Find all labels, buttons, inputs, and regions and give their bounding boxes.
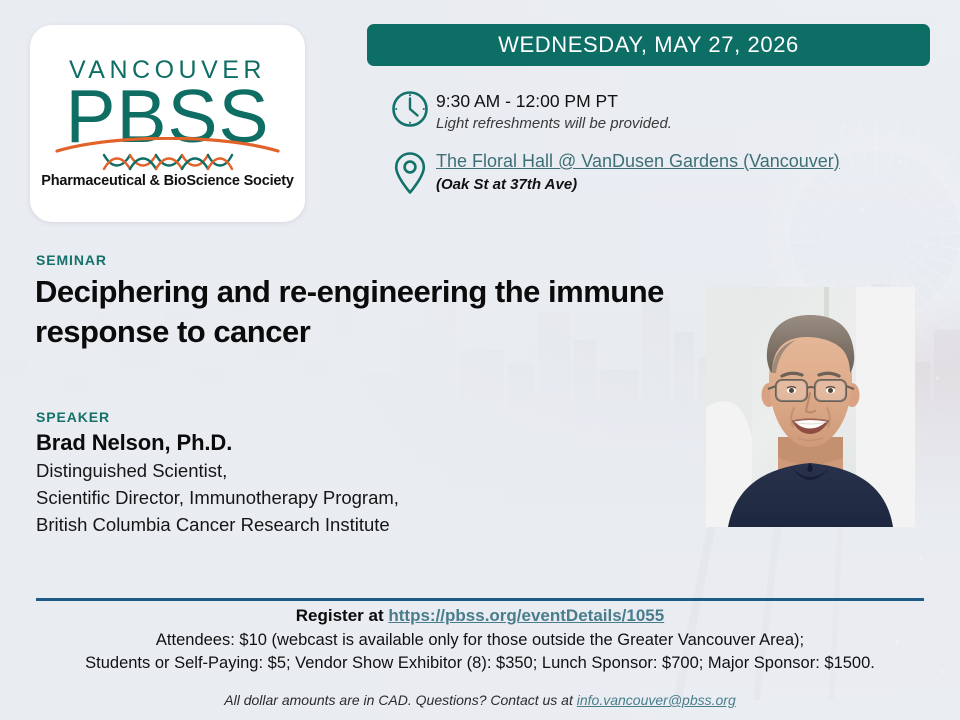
clock-icon bbox=[390, 88, 436, 129]
speaker-kicker-label: SPEAKER bbox=[36, 409, 110, 425]
date-banner-text: WEDNESDAY, MAY 27, 2026 bbox=[498, 32, 799, 58]
footer-note-text: All dollar amounts are in CAD. Questions… bbox=[224, 692, 577, 708]
footer-block: Register at https://pbss.org/eventDetail… bbox=[0, 606, 960, 676]
register-line: Register at https://pbss.org/eventDetail… bbox=[0, 606, 960, 626]
event-location-text: The Floral Hall @ VanDusen Gardens (Vanc… bbox=[436, 148, 930, 195]
speaker-affiliation-line: British Columbia Cancer Research Institu… bbox=[36, 511, 676, 538]
footer-note: All dollar amounts are in CAD. Questions… bbox=[0, 692, 960, 708]
event-time-row: 9:30 AM - 12:00 PM PT Light refreshments… bbox=[390, 88, 930, 134]
event-details-block: 9:30 AM - 12:00 PM PT Light refreshments… bbox=[390, 88, 930, 211]
logo-swoosh-icon bbox=[55, 137, 280, 153]
speaker-affiliation-line: Scientific Director, Immunotherapy Progr… bbox=[36, 484, 676, 511]
speaker-photo bbox=[706, 287, 915, 527]
date-banner: WEDNESDAY, MAY 27, 2026 bbox=[367, 24, 930, 66]
event-venue-cross-street: (Oak St at 37th Ave) bbox=[436, 175, 930, 195]
pricing-line-1: Attendees: $10 (webcast is available onl… bbox=[0, 629, 960, 652]
event-time-text: 9:30 AM - 12:00 PM PT Light refreshments… bbox=[436, 88, 930, 134]
speaker-name: Brad Nelson, Ph.D. bbox=[36, 430, 232, 456]
seminar-kicker-label: SEMINAR bbox=[36, 252, 107, 268]
seminar-title: Deciphering and re-engineering the immun… bbox=[35, 272, 675, 352]
logo-dna-helix-icon bbox=[102, 152, 234, 172]
register-prefix-text: Register at bbox=[296, 606, 389, 625]
speaker-affiliation: Distinguished Scientist,Scientific Direc… bbox=[36, 457, 676, 539]
pricing-line-2: Students or Self-Paying: $5; Vendor Show… bbox=[0, 652, 960, 675]
event-flyer: VANCOUVER PBSS Pharmaceutical & BioScien… bbox=[0, 0, 960, 720]
map-pin-icon bbox=[390, 148, 436, 197]
registration-url-link[interactable]: https://pbss.org/eventDetails/1055 bbox=[388, 606, 664, 625]
event-venue-link[interactable]: The Floral Hall @ VanDusen Gardens (Vanc… bbox=[436, 151, 840, 171]
pbss-logo-card: VANCOUVER PBSS Pharmaceutical & BioScien… bbox=[30, 25, 305, 222]
event-refreshments-note: Light refreshments will be provided. bbox=[436, 114, 930, 134]
speaker-affiliation-line: Distinguished Scientist, bbox=[36, 457, 676, 484]
contact-email-link[interactable]: info.vancouver@pbss.org bbox=[577, 692, 736, 708]
logo-tagline-text: Pharmaceutical & BioScience Society bbox=[41, 173, 294, 189]
footer-divider bbox=[36, 598, 924, 601]
event-time-value: 9:30 AM - 12:00 PM PT bbox=[436, 90, 930, 112]
event-location-row: The Floral Hall @ VanDusen Gardens (Vanc… bbox=[390, 148, 930, 197]
